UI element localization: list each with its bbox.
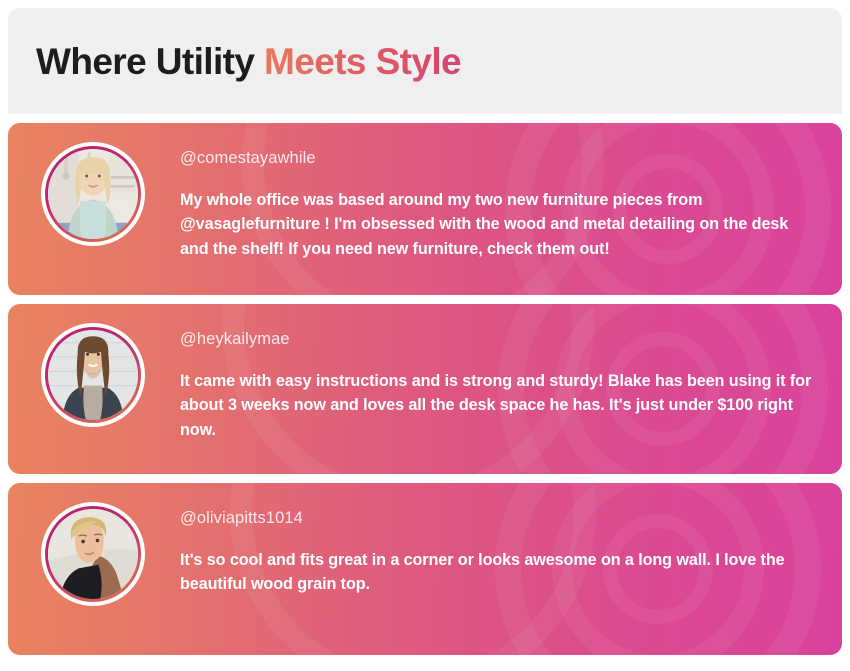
testimonial-quote: It came with easy instructions and is st…: [180, 369, 818, 443]
testimonial-list: @comestayawhile My whole office was base…: [8, 123, 842, 655]
avatar-photo: [48, 509, 138, 599]
avatar: [41, 502, 145, 606]
testimonial-quote: It's so cool and fits great in a corner …: [180, 548, 818, 597]
testimonial-content: @comestayawhile My whole office was base…: [145, 123, 842, 262]
testimonial-handle[interactable]: @comestayawhile: [180, 149, 818, 169]
avatar-image-blonde-woman-black-top: [48, 509, 138, 599]
avatar-ring: [45, 146, 141, 242]
page-title-space: [254, 41, 264, 82]
testimonial-content: @oliviapitts1014 It's so cool and fits g…: [145, 483, 842, 597]
avatar-image-brunette-woman: [48, 330, 138, 420]
testimonial-handle[interactable]: @heykailymae: [180, 330, 818, 350]
testimonial-quote: My whole office was based around my two …: [180, 188, 800, 262]
avatar: [41, 142, 145, 246]
testimonial-card[interactable]: @oliviapitts1014 It's so cool and fits g…: [8, 483, 842, 655]
avatar-ring: [45, 327, 141, 423]
testimonial-handle[interactable]: @oliviapitts1014: [180, 509, 818, 529]
avatar-photo: [48, 149, 138, 239]
avatar-ring: [45, 506, 141, 602]
testimonial-card[interactable]: @comestayawhile My whole office was base…: [8, 123, 842, 295]
section-header: Where Utility Meets Style: [8, 8, 842, 114]
page-title: Where Utility Meets Style: [36, 43, 461, 80]
testimonial-card[interactable]: @heykailymae It came with easy instructi…: [8, 304, 842, 474]
testimonials-page: Where Utility Meets Style: [0, 0, 850, 671]
avatar-photo: [48, 330, 138, 420]
avatar: [41, 323, 145, 427]
avatar-image-blonde-woman: [48, 149, 138, 239]
testimonial-content: @heykailymae It came with easy instructi…: [145, 304, 842, 443]
page-title-primary: Where Utility: [36, 41, 254, 82]
page-title-accent: Meets Style: [264, 41, 461, 82]
